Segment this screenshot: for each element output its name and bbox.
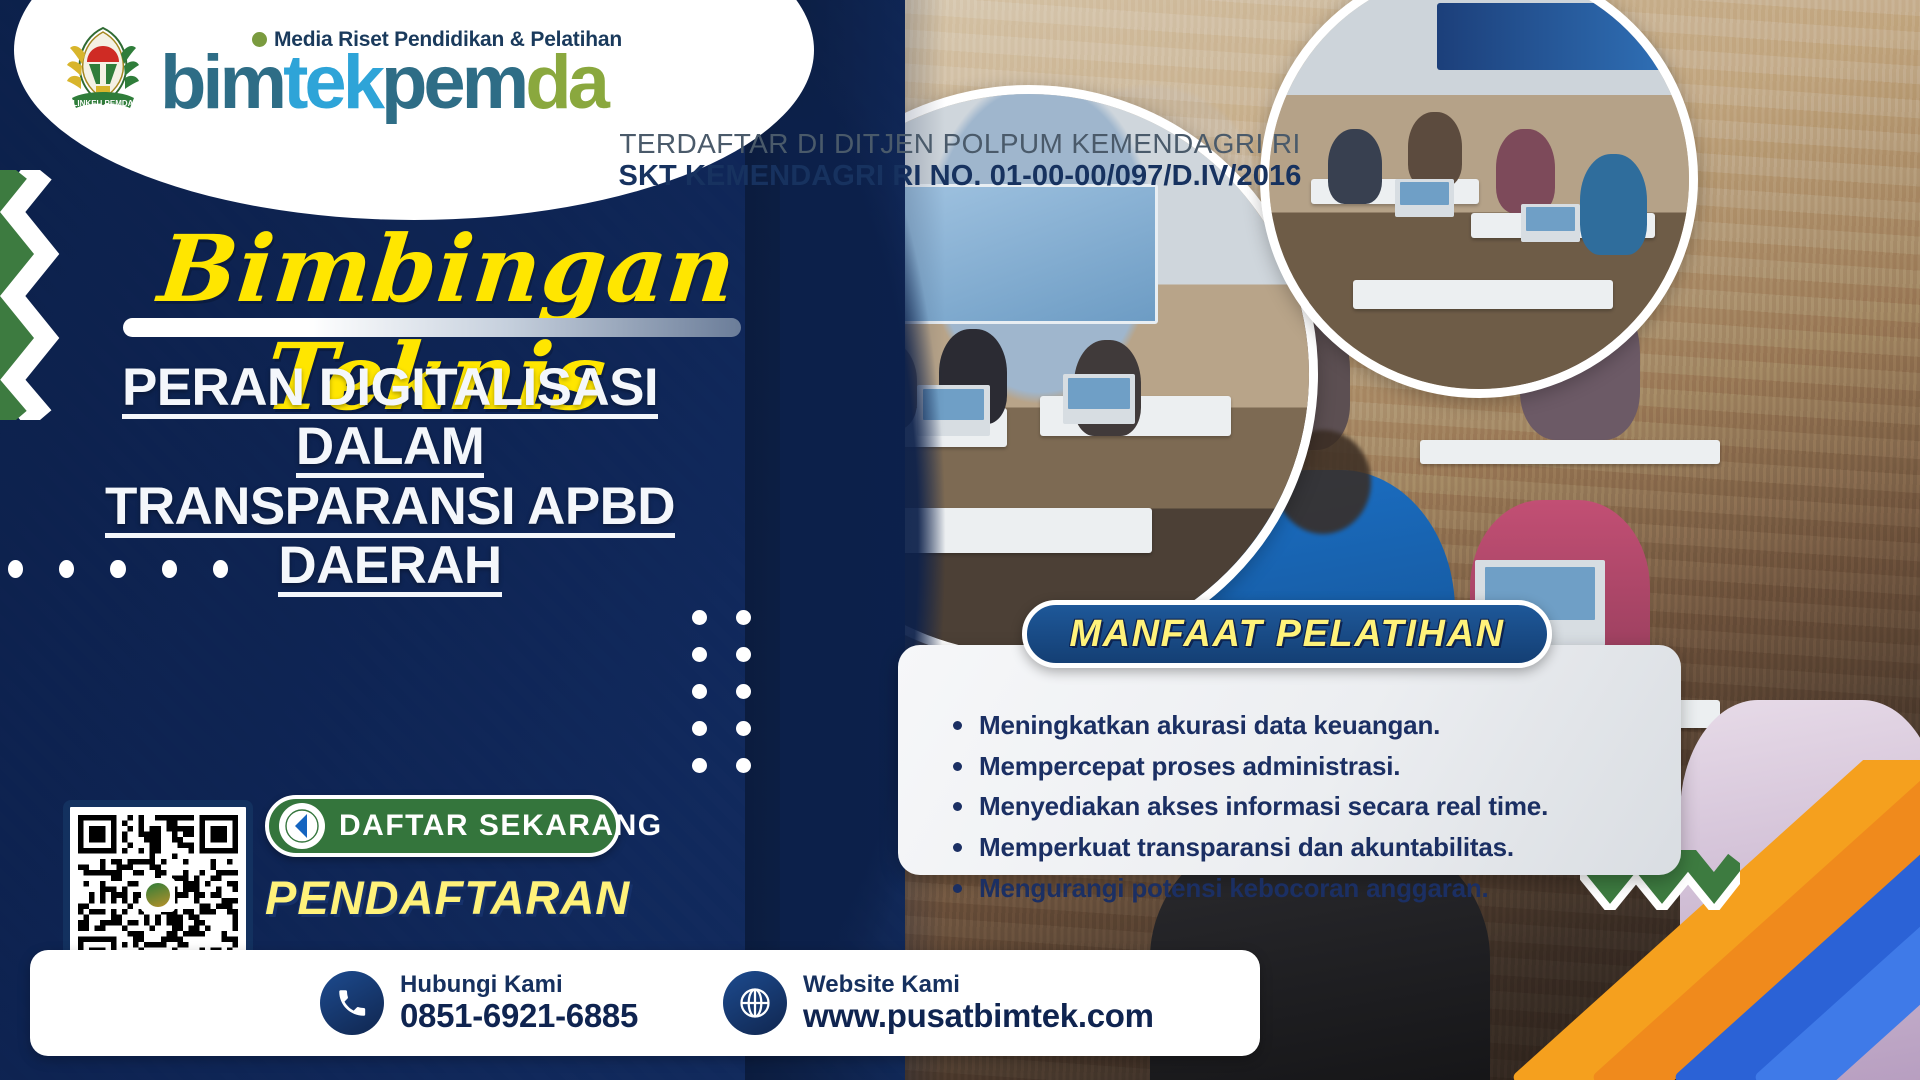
dot	[736, 758, 751, 773]
list-item: Mengurangi potensi kebocoran anggaran.	[945, 873, 1665, 904]
daftar-sekarang-label: DAFTAR SEKARANG	[339, 809, 663, 843]
contact-phone[interactable]: Hubungi Kami 0851-6921-6885	[320, 971, 638, 1035]
dots-grid-decoration	[692, 610, 752, 770]
crest-label: LINKEU PEMDA	[73, 99, 134, 108]
dot	[736, 647, 751, 662]
website-text: Website Kami www.pusatbimtek.com	[803, 972, 1154, 1034]
desk	[1420, 440, 1720, 464]
list-item: Memperkuat transparansi dan akuntabilita…	[945, 832, 1665, 863]
phone-text: Hubungi Kami 0851-6921-6885	[400, 972, 638, 1034]
dot	[110, 560, 125, 578]
title-line-2: TRANSPARANSI APBD	[105, 477, 675, 538]
phone-icon	[320, 971, 384, 1035]
brand-name: bimtekpemda	[160, 52, 622, 114]
list-item: Meningkatkan akurasi data keuangan.	[945, 710, 1665, 741]
dot	[692, 758, 707, 773]
brand-logo-row: LINKEU PEMDA Media Riset Pendidikan & Pe…	[60, 22, 760, 122]
benefits-list: Meningkatkan akurasi data keuangan. Memp…	[945, 710, 1665, 913]
benefits-heading-pill: MANFAAT PELATIHAN	[1022, 600, 1552, 668]
website-value: www.pusatbimtek.com	[803, 998, 1154, 1034]
phone-value: 0851-6921-6885	[400, 998, 638, 1034]
registration-line-1: TERDAFTAR DI DITJEN POLPUM KEMENDAGRI RI	[0, 128, 1920, 160]
contact-footer-bar: Hubungi Kami 0851-6921-6885 Website Kami…	[30, 950, 1260, 1056]
brand-name-part-2: tek	[283, 40, 381, 125]
dot	[692, 721, 707, 736]
contact-website[interactable]: Website Kami www.pusatbimtek.com	[723, 971, 1154, 1035]
registration-line-2: SKT KEMENDAGRI RI NO. 01-00-00/097/D.IV/…	[0, 160, 1920, 193]
pendaftaran-heading: PENDAFTARAN	[265, 870, 625, 925]
globe-icon	[723, 971, 787, 1035]
brand-name-part-1: bim	[160, 40, 283, 125]
qr-center-logo-icon	[141, 878, 175, 912]
title-line-1: PERAN DIGITALISASI DALAM	[122, 358, 658, 478]
dot	[736, 684, 751, 699]
chevron-left-icon	[279, 803, 325, 849]
list-item: Menyediakan akses informasi secara real …	[945, 791, 1665, 822]
phone-caption: Hubungi Kami	[400, 972, 638, 998]
brand-wordmark: Media Riset Pendidikan & Pelatihan bimte…	[160, 29, 622, 114]
list-item: Mempercepat proses administrasi.	[945, 751, 1665, 782]
dot	[59, 560, 74, 578]
poster-canvas: LINKEU PEMDA Media Riset Pendidikan & Pe…	[0, 0, 1920, 1080]
dot	[736, 610, 751, 625]
event-backdrop-banner	[1437, 3, 1664, 70]
title-line-3: DAERAH	[278, 536, 501, 597]
dots-row-decoration	[8, 560, 228, 586]
dot	[736, 721, 751, 736]
benefits-heading: MANFAAT PELATIHAN	[1069, 613, 1504, 656]
headline-divider	[123, 318, 741, 337]
dot	[692, 684, 707, 699]
website-caption: Website Kami	[803, 972, 1154, 998]
photo-circle-workshop	[1260, 0, 1698, 398]
dot	[8, 560, 23, 578]
dot	[162, 560, 177, 578]
dot	[213, 560, 228, 578]
daftar-sekarang-button[interactable]: DAFTAR SEKARANG	[265, 795, 620, 857]
dot	[692, 610, 707, 625]
brand-name-part-3: pem	[381, 40, 525, 125]
dot	[692, 647, 707, 662]
pemda-crest-icon: LINKEU PEMDA	[60, 24, 146, 120]
brand-name-part-4: da	[525, 40, 606, 125]
